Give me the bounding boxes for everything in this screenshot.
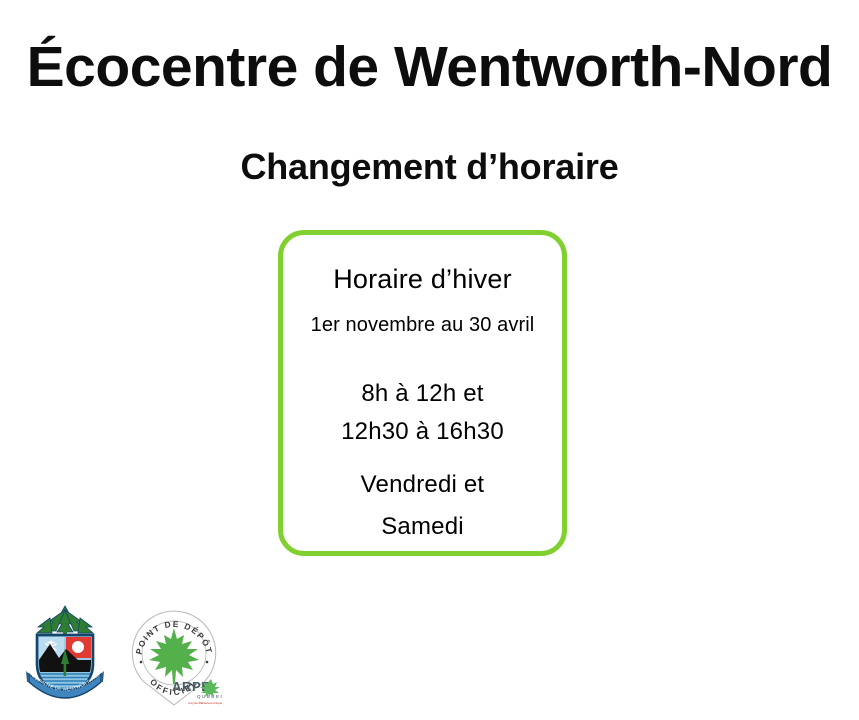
schedule-box: Horaire d’hiver 1er novembre au 30 avril… bbox=[278, 230, 567, 556]
schedule-date-range: 1er novembre au 30 avril bbox=[283, 312, 562, 338]
schedule-days-line-2: Samedi bbox=[283, 506, 562, 548]
schedule-hours-line-1: 8h à 12h et bbox=[283, 375, 562, 413]
schedule-heading: Horaire d’hiver bbox=[283, 263, 562, 295]
page-subtitle: Changement d’horaire bbox=[0, 145, 859, 189]
page-title: Écocentre de Wentworth-Nord bbox=[0, 36, 859, 98]
arpe-tagline: recyclerMESelectroniques.ca bbox=[188, 701, 222, 705]
municipality-coat-of-arms-icon: MUNICIPALITÉ DE WENTWORTH-NORD bbox=[26, 602, 104, 706]
schedule-hours: 8h à 12h et 12h30 à 16h30 bbox=[283, 375, 562, 451]
schedule-days: Vendredi et Samedi bbox=[283, 464, 562, 548]
logo-row: MUNICIPALITÉ DE WENTWORTH-NORD POINT DE … bbox=[26, 598, 216, 710]
arpe-region: QUÉBEC bbox=[197, 692, 222, 699]
schedule-days-line-1: Vendredi et bbox=[283, 464, 562, 506]
schedule-hours-line-2: 12h30 à 16h30 bbox=[283, 413, 562, 451]
point-de-depot-officiel-pin-icon: POINT DE DÉPÔT OFFICIEL ARPE QUÉBEC recy… bbox=[126, 608, 222, 708]
